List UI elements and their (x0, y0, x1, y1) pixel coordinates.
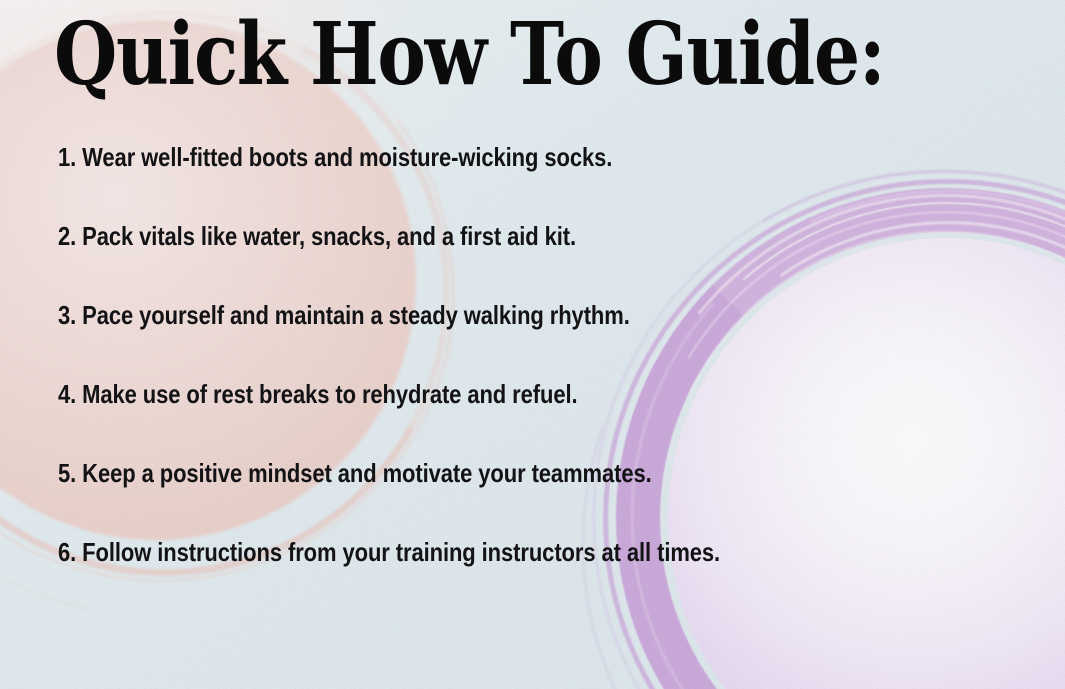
list-item: 1. Wear well-fitted boots and moisture-w… (58, 144, 700, 223)
list-item: 4. Make use of rest breaks to rehydrate … (58, 381, 700, 460)
list-item: 5. Keep a positive mindset and motivate … (58, 460, 700, 539)
how-to-steps-list: 1. Wear well-fitted boots and moisture-w… (58, 144, 818, 618)
poster-canvas: Quick How To Guide: 1. Wear well-fitted … (0, 0, 1065, 689)
list-item: 3. Pace yourself and maintain a steady w… (58, 302, 700, 381)
list-item: 2. Pack vitals like water, snacks, and a… (58, 223, 700, 302)
poster-content: Quick How To Guide: 1. Wear well-fitted … (0, 0, 1065, 689)
step-text: 3. Pace yourself and maintain a steady w… (58, 300, 630, 330)
step-text: 1. Wear well-fitted boots and moisture-w… (58, 142, 612, 172)
page-title: Quick How To Guide: (54, 12, 884, 98)
step-text: 2. Pack vitals like water, snacks, and a… (58, 221, 576, 251)
step-text: 6. Follow instructions from your trainin… (58, 537, 720, 567)
list-item: 6. Follow instructions from your trainin… (58, 539, 700, 618)
step-text: 4. Make use of rest breaks to rehydrate … (58, 379, 578, 409)
step-text: 5. Keep a positive mindset and motivate … (58, 458, 652, 488)
